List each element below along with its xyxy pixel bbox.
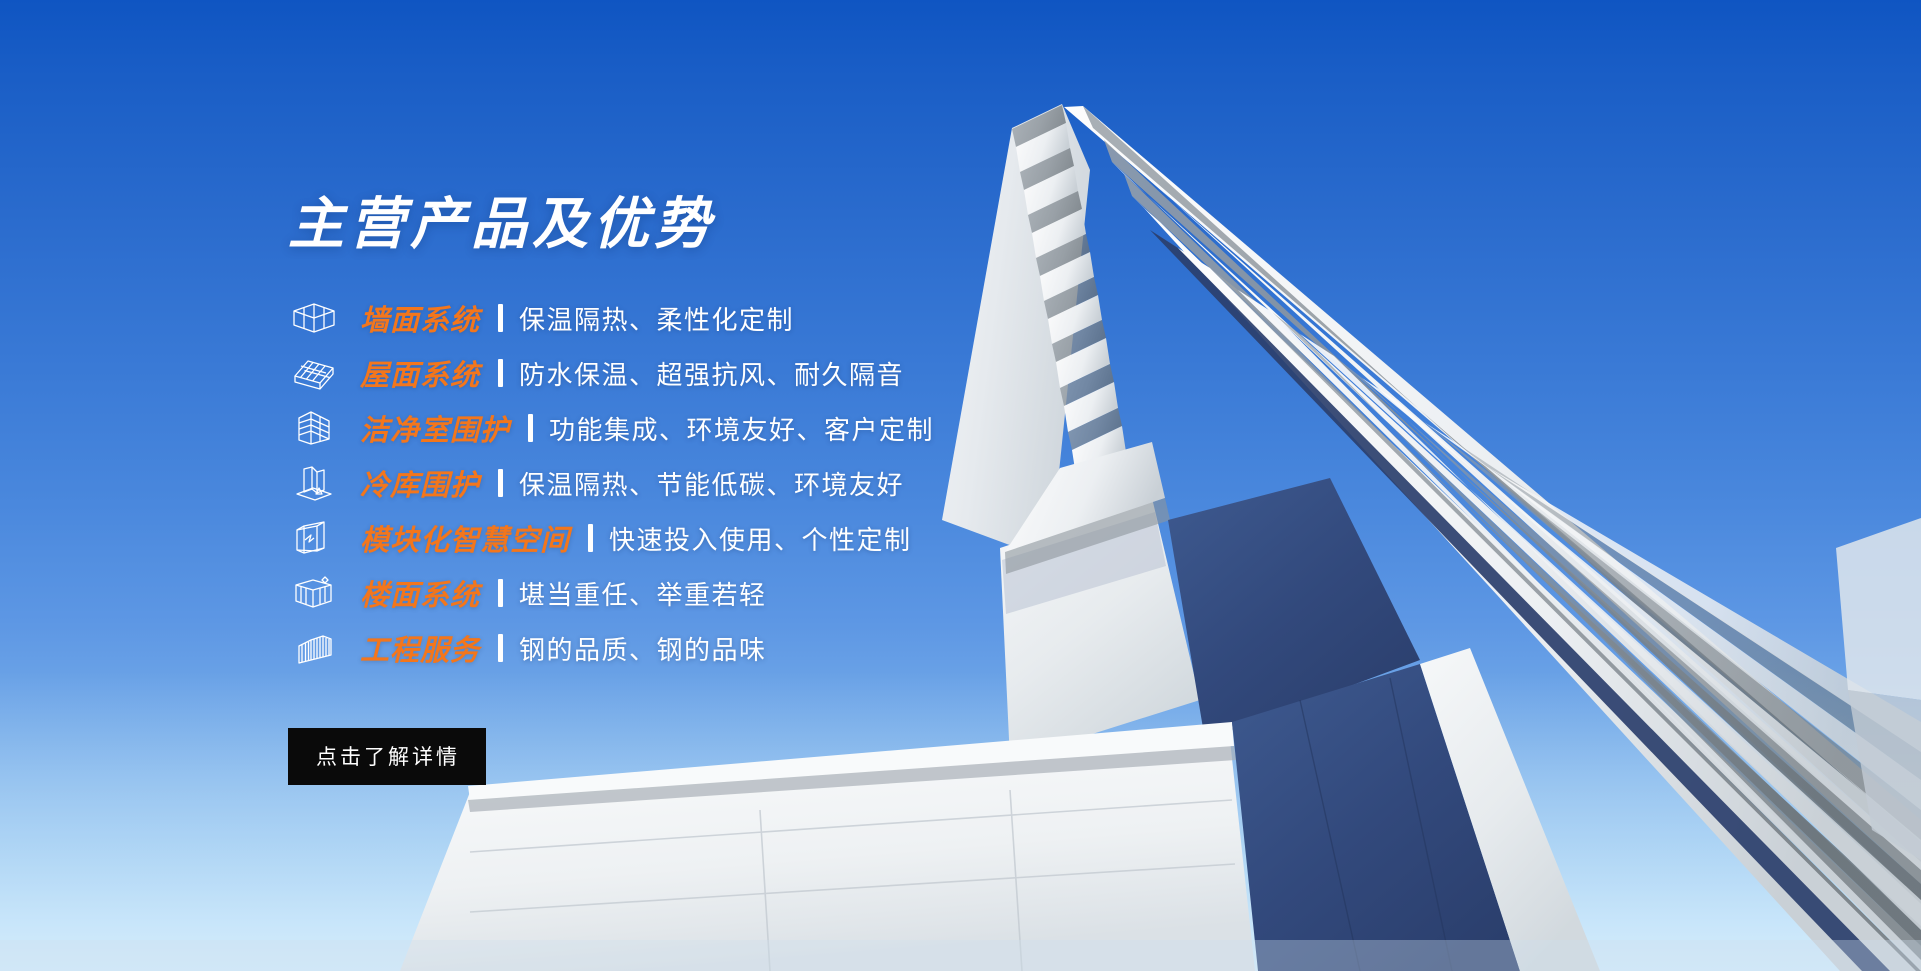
learn-more-button[interactable]: 点击了解详情	[288, 728, 486, 785]
wall-panel-wireframe-icon	[288, 296, 340, 340]
feature-desc: 防水保温、超强抗风、耐久隔音	[519, 355, 904, 392]
feature-row-cold-storage-envelope[interactable]: 冷库围护 保温隔热、节能低碳、环境友好	[288, 456, 1288, 511]
feature-row-cleanroom-envelope[interactable]: 洁净室围护 功能集成、环境友好、客户定制	[288, 401, 1288, 456]
feature-row-wall-system[interactable]: 墙面系统 保温隔热、柔性化定制	[288, 291, 1288, 346]
feature-title: 墙面系统	[360, 297, 480, 339]
cold-storage-wireframe-icon	[288, 461, 340, 505]
feature-desc: 功能集成、环境友好、客户定制	[549, 410, 934, 447]
feature-title: 屋面系统	[360, 352, 480, 394]
feature-separator	[498, 579, 503, 607]
feature-title: 洁净室围护	[360, 407, 510, 449]
feature-separator	[498, 634, 503, 662]
feature-separator	[498, 359, 503, 387]
feature-title: 模块化智慧空间	[360, 517, 570, 559]
feature-desc: 保温隔热、柔性化定制	[519, 300, 794, 337]
engineering-service-wireframe-icon	[288, 626, 340, 670]
feature-list: 墙面系统 保温隔热、柔性化定制 屋面系统 防水保温、超强抗风、	[288, 291, 1288, 676]
feature-title: 工程服务	[360, 627, 480, 669]
feature-title: 楼面系统	[360, 572, 480, 614]
hero-content: 主营产品及优势 墙面系统 保温隔热、柔性化定制	[288, 196, 1288, 785]
feature-row-engineering-service[interactable]: 工程服务 钢的品质、钢的品味	[288, 621, 1288, 676]
page-title: 主营产品及优势	[288, 196, 1288, 255]
hero-banner: 主营产品及优势 墙面系统 保温隔热、柔性化定制	[0, 0, 1921, 971]
floor-deck-wireframe-icon	[288, 571, 340, 615]
feature-separator	[498, 304, 503, 332]
feature-row-floor-system[interactable]: 楼面系统 堪当重任、举重若轻	[288, 566, 1288, 621]
roof-panel-wireframe-icon	[288, 351, 340, 395]
feature-desc: 堪当重任、举重若轻	[519, 575, 767, 612]
feature-separator	[528, 414, 533, 442]
feature-row-roof-system[interactable]: 屋面系统 防水保温、超强抗风、耐久隔音	[288, 346, 1288, 401]
feature-desc: 钢的品质、钢的品味	[519, 630, 767, 667]
feature-desc: 保温隔热、节能低碳、环境友好	[519, 465, 904, 502]
feature-row-modular-smart-space[interactable]: 模块化智慧空间 快速投入使用、个性定制	[288, 511, 1288, 566]
feature-desc: 快速投入使用、个性定制	[609, 520, 912, 557]
feature-title: 冷库围护	[360, 462, 480, 504]
cleanroom-building-wireframe-icon	[288, 406, 340, 450]
feature-separator	[588, 524, 593, 552]
feature-separator	[498, 469, 503, 497]
modular-cube-wireframe-icon	[288, 516, 340, 560]
